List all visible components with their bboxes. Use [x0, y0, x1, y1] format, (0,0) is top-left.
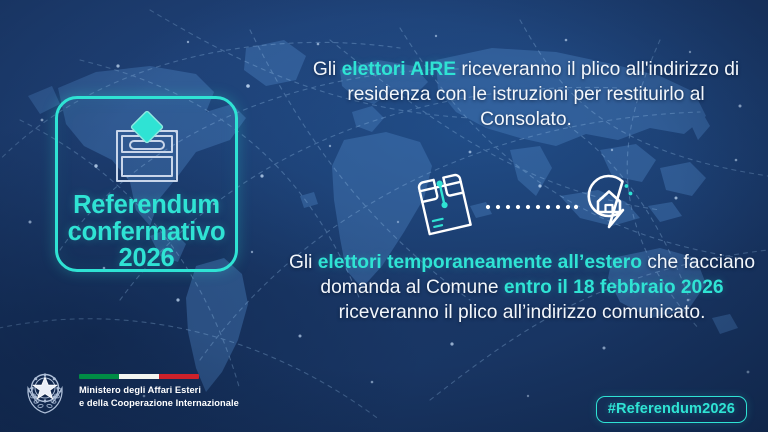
- referendum-title-line1: Referendum: [68, 192, 226, 219]
- referendum-title: Referendum confermativo 2026: [68, 192, 226, 272]
- ministry-name-line2: e della Cooperazione Internazionale: [79, 397, 239, 410]
- ballot-box-icon: [105, 107, 189, 190]
- plain-text: Gli: [313, 59, 342, 80]
- paragraph-aire-voters: Gli elettori AIRE riceveranno il plico a…: [300, 58, 752, 133]
- ballot-diamond: [130, 111, 163, 144]
- campaign-hashtag-badge[interactable]: #Referendum2026: [596, 396, 747, 423]
- italian-flag-bar: [79, 374, 199, 379]
- delivery-flow-icons: [400, 170, 640, 242]
- referendum-title-line2: confermativo: [68, 219, 226, 246]
- referendum-title-year: 2026: [68, 245, 226, 272]
- highlighted-text: elettori AIRE: [342, 59, 456, 80]
- ministry-name-line1: Ministero degli Affari Esteri: [79, 384, 239, 397]
- highlighted-text: entro il 18 febbraio 2026: [504, 277, 724, 298]
- infographic-canvas: Referendum confermativo 2026 Gli elettor…: [0, 0, 768, 432]
- italian-republic-emblem: [22, 366, 68, 416]
- plain-text: riceveranno il plico all’indirizzo comun…: [339, 302, 706, 323]
- highlighted-text: elettori temporaneamente all’estero: [318, 252, 642, 273]
- plain-text: Gli: [289, 252, 318, 273]
- referendum-emblem-card: Referendum confermativo 2026: [55, 96, 238, 272]
- dotted-path-line: [485, 203, 579, 211]
- paragraph-temporary-abroad-voters: Gli elettori temporaneamente all’estero …: [288, 251, 756, 326]
- envelope-package-icon: [408, 172, 482, 242]
- ministry-logo-lockup: Ministero degli Affari Esteri e della Co…: [22, 366, 239, 416]
- home-location-pin-icon: [578, 170, 640, 240]
